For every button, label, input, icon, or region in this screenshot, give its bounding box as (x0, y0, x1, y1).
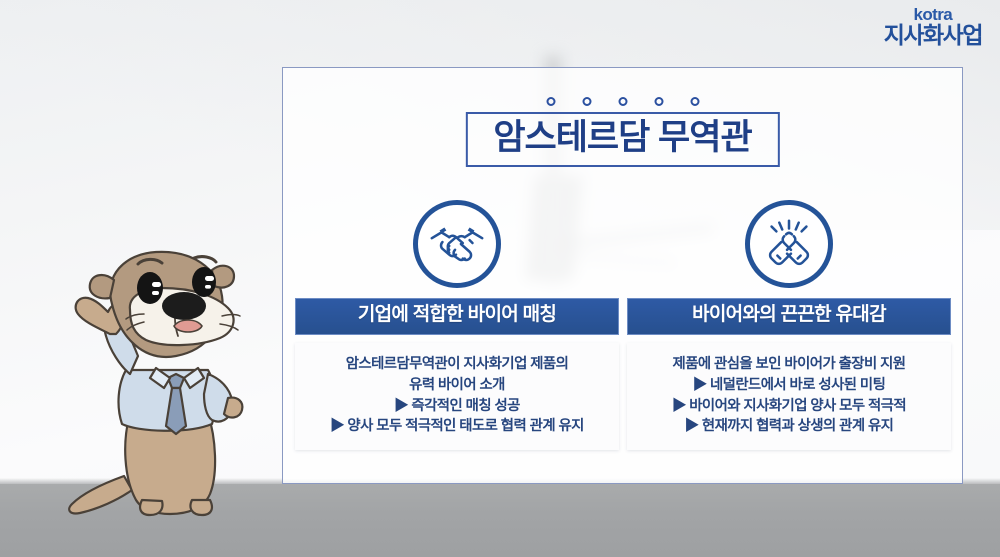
banner-label: 기업에 적합한 바이어 매칭 (308, 304, 606, 327)
content-card: 암스테르담 무역관 (282, 67, 963, 484)
logo-brand-text: kotra (884, 6, 982, 23)
handshake-icon (413, 200, 501, 288)
panel-line: 암스테르담무역관이 지사화기업 제품의 (301, 354, 613, 375)
kotra-logo: kotra 지사화사업 (884, 6, 982, 47)
banner-buyer-bond: 바이어와의 끈끈한 유대감 (627, 298, 951, 335)
column-buyer-bond: 바이어와의 끈끈한 유대감 제품에 관심을 보인 바이어가 출장비 지원 ▶ 네… (627, 200, 951, 450)
panel-line: ▶ 즉각적인 매칭 성공 (301, 396, 613, 417)
panel-line: ▶ 바이어와 지사화기업 양사 모두 적극적 (633, 396, 945, 417)
panel-line: ▶ 현재까지 협력과 상생의 관계 유지 (633, 416, 945, 437)
title-dot-icon (690, 97, 699, 106)
title-dot-icon (546, 97, 555, 106)
otter-mascot (52, 238, 264, 528)
panel-line: ▶ 네덜란드에서 바로 성사된 미팅 (633, 375, 945, 396)
panel-buyer-bond: 제품에 관심을 보인 바이어가 출장비 지원 ▶ 네덜란드에서 바로 성사된 미… (627, 343, 951, 451)
banner-buyer-matching: 기업에 적합한 바이어 매칭 (295, 298, 619, 335)
title-dot-icon (582, 97, 591, 106)
logo-program-text: 지사화사업 (884, 24, 982, 47)
panel-line: 유력 바이어 소개 (301, 375, 613, 396)
icon-container (295, 200, 619, 288)
banner-label: 바이어와의 끈끈한 유대감 (640, 304, 938, 327)
panel-buyer-matching: 암스테르담무역관이 지사화기업 제품의 유력 바이어 소개 ▶ 즉각적인 매칭 … (295, 343, 619, 451)
panel-line: 제품에 관심을 보인 바이어가 출장비 지원 (633, 354, 945, 375)
page-title-box: 암스테르담 무역관 (465, 112, 779, 167)
title-dots (546, 97, 699, 106)
clasped-hands-icon (745, 200, 833, 288)
column-buyer-matching: 기업에 적합한 바이어 매칭 암스테르담무역관이 지사화기업 제품의 유력 바이… (295, 200, 619, 450)
page-title: 암스테르담 무역관 (493, 117, 751, 158)
title-dot-icon (654, 97, 663, 106)
panel-line: ▶ 양사 모두 적극적인 태도로 협력 관계 유지 (301, 416, 613, 437)
icon-container (627, 200, 951, 288)
title-dot-icon (618, 97, 627, 106)
